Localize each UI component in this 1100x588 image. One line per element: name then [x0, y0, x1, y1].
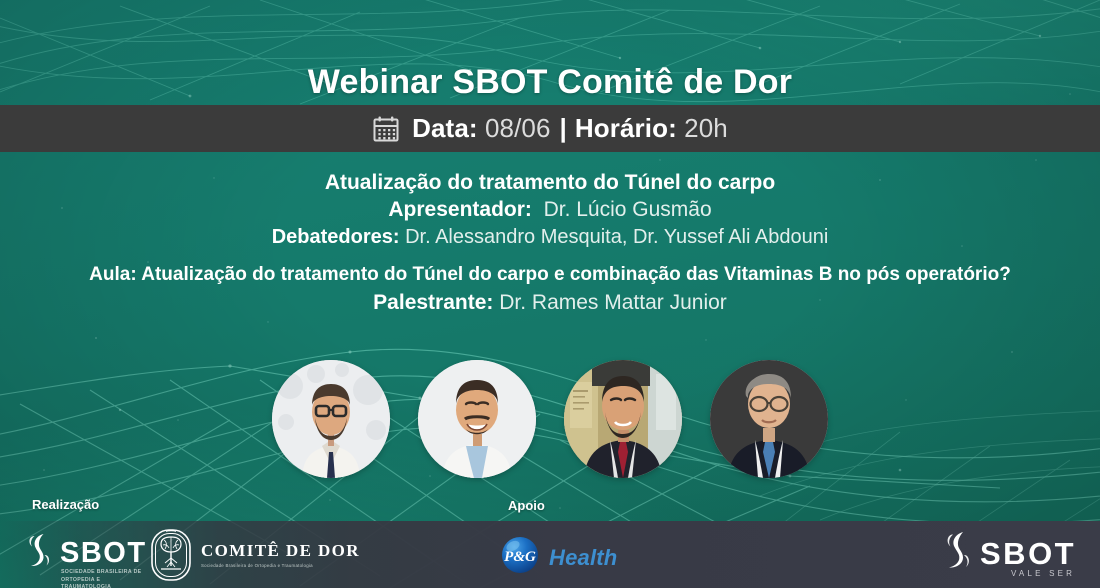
- presenter-label: Apresentador:: [388, 198, 532, 221]
- sbot-subtitle: SOCIEDADE BRASILEIRA DE ORTOPEDIA E TRAU…: [61, 569, 147, 588]
- session-two-block: Aula: Atualização do tratamento do Túnel…: [0, 262, 1100, 318]
- svg-text:P&G: P&G: [504, 549, 536, 565]
- portrait-man-glasses-beard-white-coat: [272, 360, 390, 478]
- comite-brain-tree-icon: [150, 528, 192, 582]
- sbot-logo: SBOT SOCIEDADE BRASILEIRA DE ORTOPEDIA E…: [26, 532, 147, 575]
- time-label: Horário:: [575, 113, 677, 144]
- portrait-man-glasses-dark-suit-blue-tie: [710, 360, 828, 478]
- date-value: 08/06: [485, 113, 551, 144]
- sbot-s-mark-icon: [944, 530, 973, 577]
- pg-health-logo: P&G Health: [500, 535, 617, 580]
- date-time-separator: |: [551, 113, 575, 144]
- speaker-value: Dr. Rames Mattar Junior: [499, 291, 727, 314]
- debaters-line: Debatedores: Dr. Alessandro Mesquita, Dr…: [0, 224, 1100, 250]
- sbot-s-mark-icon: [26, 532, 53, 575]
- avatar: [710, 360, 828, 478]
- speaker-label: Palestrante:: [373, 291, 493, 314]
- avatar: [418, 360, 536, 478]
- lecture-title: Aula: Atualização do tratamento do Túnel…: [0, 262, 1100, 288]
- session-one-block: Atualização do tratamento do Túnel do ca…: [0, 169, 1100, 250]
- date-label: Data:: [412, 113, 478, 144]
- date-time-text: Data: 08/06|Horário: 20h: [412, 113, 728, 144]
- speaker-photos: [0, 360, 1100, 478]
- session-one-topic: Atualização do tratamento do Túnel do ca…: [0, 169, 1100, 196]
- debaters-value: Dr. Alessandro Mesquita, Dr. Yussef Ali …: [405, 226, 828, 248]
- pg-health-wordmark: Health: [549, 545, 617, 571]
- comite-de-dor-logo: COMITÊ DE DOR Sociedade Brasileira de Or…: [150, 528, 360, 582]
- portrait-man-beard-dark-suit-red-tie: [564, 360, 682, 478]
- speaker-line: Palestrante: Dr. Rames Mattar Junior: [0, 288, 1100, 318]
- comite-text: COMITÊ DE DOR Sociedade Brasileira de Or…: [201, 542, 360, 568]
- calendar-icon: [372, 115, 400, 143]
- sbot-vale-ser-logo: SBOT VALE SER: [944, 530, 1076, 577]
- comite-wordmark: COMITÊ DE DOR: [201, 541, 360, 560]
- portrait-man-smiling-white-coat: [418, 360, 536, 478]
- avatar: [272, 360, 390, 478]
- avatar: [564, 360, 682, 478]
- presenter-line: Apresentador: Dr. Lúcio Gusmão: [0, 196, 1100, 223]
- sbot-wordmark: SBOT SOCIEDADE BRASILEIRA DE ORTOPEDIA E…: [60, 539, 147, 568]
- sbot-tagline: VALE SER: [1011, 570, 1075, 578]
- comite-subtitle: Sociedade Brasileira de Ortopedia e Trau…: [201, 564, 360, 568]
- date-time-bar: Data: 08/06|Horário: 20h: [0, 105, 1100, 152]
- pg-moon-icon: P&G: [500, 535, 540, 580]
- debaters-label: Debatedores:: [272, 226, 400, 248]
- realizacao-label: Realização: [32, 497, 99, 512]
- presenter-value: Dr. Lúcio Gusmão: [544, 198, 712, 221]
- webinar-banner: Webinar SBOT Comitê de Dor Data: 08/06: [0, 0, 1100, 588]
- sbot-right-wordmark: SBOT VALE SER: [980, 538, 1076, 569]
- apoio-label: Apoio: [508, 498, 545, 513]
- page-title: Webinar SBOT Comitê de Dor: [0, 63, 1100, 102]
- time-value: 20h: [684, 113, 728, 144]
